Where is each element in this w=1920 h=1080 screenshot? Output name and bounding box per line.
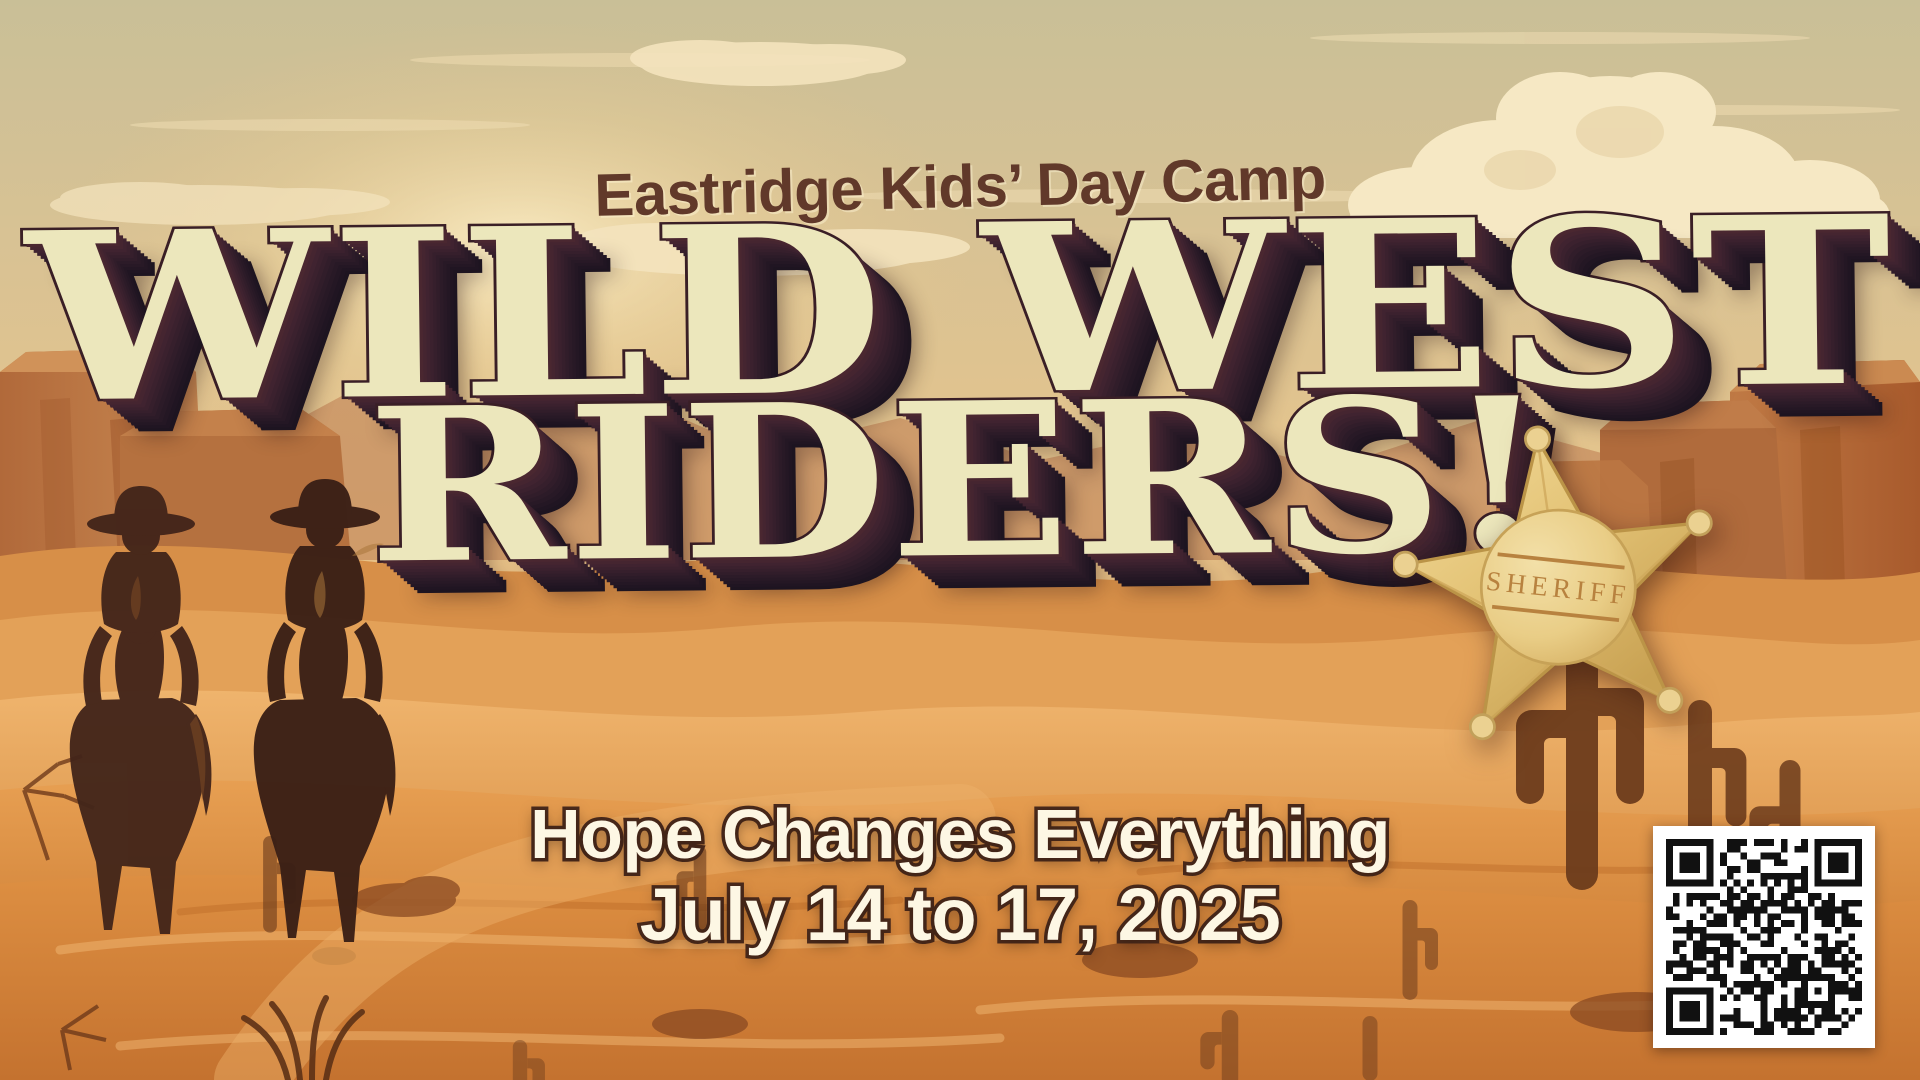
- tagline-block: Hope Changes Everything July 14 to 17, 2…: [0, 798, 1920, 954]
- qr-code[interactable]: [1653, 826, 1875, 1048]
- tagline-hope-changes-everything: Hope Changes Everything: [0, 798, 1920, 871]
- poster-canvas: Eastridge Kids’ Day Camp WILD WEST RIDER…: [0, 0, 1920, 1080]
- camp-dates: July 14 to 17, 2025: [0, 877, 1920, 954]
- sheriff-star-badge: SHERIFF: [1393, 420, 1723, 750]
